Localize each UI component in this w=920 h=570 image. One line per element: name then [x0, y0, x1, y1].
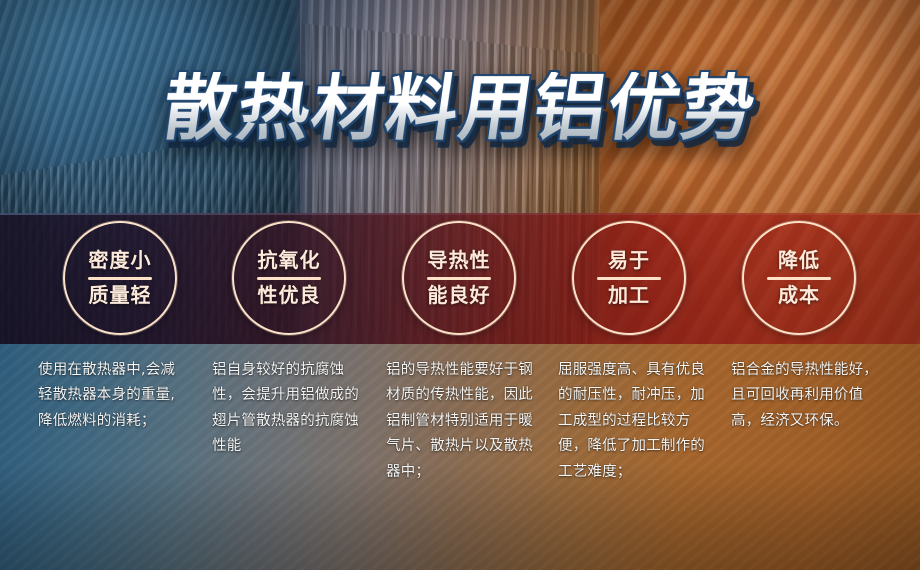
badge-conductivity-line1: 导热性: [428, 250, 491, 272]
badge-cost-line1: 降低: [778, 250, 820, 272]
desc-machinability: 屈服强度高、具有优良的耐压性，耐冲压，加工成型的过程比较方便，降低了加工制作的工…: [558, 358, 708, 485]
badge-conductivity-line2: 能良好: [428, 285, 491, 307]
badge-oxidation-divider: [257, 277, 321, 280]
badge-conductivity-divider: [427, 277, 491, 280]
badge-density-divider: [88, 277, 152, 280]
badge-oxidation-line1: 抗氧化: [258, 250, 321, 272]
badge-oxidation-line2: 性优良: [258, 285, 321, 307]
badge-oxidation[interactable]: 抗氧化 性优良: [232, 221, 346, 335]
badge-machinability-line1: 易于: [608, 250, 650, 272]
badge-cost[interactable]: 降低 成本: [742, 221, 856, 335]
desc-density: 使用在散热器中,会减轻散热器本身的重量,降低燃料的消耗；: [38, 358, 188, 434]
badge-density-line1: 密度小: [89, 250, 152, 272]
badge-conductivity[interactable]: 导热性 能良好: [402, 221, 516, 335]
badge-density[interactable]: 密度小 质量轻: [63, 221, 177, 335]
desc-oxidation: 铝自身较好的抗腐蚀性，会提升用铝做成的翅片管散热器的抗腐蚀性能: [212, 358, 362, 460]
badge-density-line2: 质量轻: [89, 285, 152, 307]
desc-conductivity: 铝的导热性能要好于钢材质的传热性能，因此铝制管材特别适用于暖气片、散热片以及散热…: [386, 358, 536, 485]
badge-cost-line2: 成本: [778, 285, 820, 307]
badge-machinability[interactable]: 易于 加工: [572, 221, 686, 335]
description-columns: 使用在散热器中,会减轻散热器本身的重量,降低燃料的消耗； 铝自身较好的抗腐蚀性，…: [0, 344, 920, 570]
infographic-poster: 散热材料用铝优势 密度小 质量轻 抗氧化 性优良 导热性 能良好 易于 加工 降…: [0, 0, 920, 570]
badge-row: 密度小 质量轻 抗氧化 性优良 导热性 能良好 易于 加工 降低 成本: [0, 213, 920, 344]
badge-cost-divider: [767, 277, 831, 280]
badge-machinability-divider: [597, 277, 661, 280]
title-container: 散热材料用铝优势: [0, 72, 920, 144]
desc-cost: 铝合金的导热性能好，且可回收再利用价值高，经济又环保。: [731, 358, 881, 434]
description-strip: 使用在散热器中,会减轻散热器本身的重量,降低燃料的消耗； 铝自身较好的抗腐蚀性，…: [0, 344, 920, 570]
page-title: 散热材料用铝优势: [159, 72, 761, 144]
badge-machinability-line2: 加工: [608, 285, 650, 307]
